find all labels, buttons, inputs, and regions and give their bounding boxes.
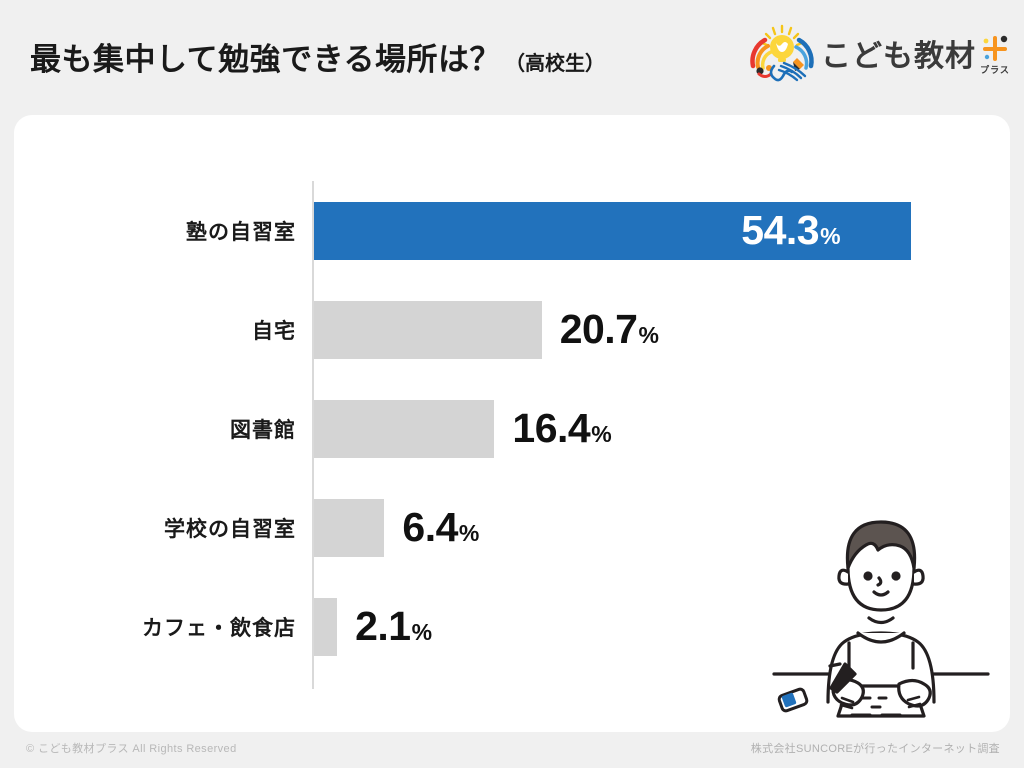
- brand-logo-text: こども教材: [821, 31, 976, 75]
- page-title-sub: （高校生）: [505, 47, 605, 76]
- chart-category-label: 図書館: [14, 414, 296, 444]
- bar-chart: 塾の自習室54.3%自宅20.7%図書館16.4%学校の自習室6.4%カフェ・飲…: [14, 115, 1010, 732]
- chart-card: 塾の自習室54.3%自宅20.7%図書館16.4%学校の自習室6.4%カフェ・飲…: [14, 115, 1010, 732]
- chart-bar: [314, 400, 494, 458]
- chart-value-number: 6.4: [402, 504, 458, 551]
- chart-value-unit: %: [639, 322, 659, 349]
- chart-bar: [314, 598, 337, 656]
- chart-row: 自宅20.7%: [14, 280, 1010, 379]
- chart-row: 学校の自習室6.4%: [14, 478, 1010, 577]
- chart-row: 塾の自習室54.3%: [14, 181, 1010, 280]
- chart-value-number: 16.4: [512, 405, 590, 452]
- page-header: 最も集中して勉強できる場所は？ （高校生）: [0, 0, 1024, 115]
- chart-value-unit: %: [820, 223, 840, 250]
- chart-value-label: 54.3%: [741, 207, 840, 254]
- chart-category-label: 学校の自習室: [14, 513, 296, 543]
- page-title-main: 最も集中して勉強できる場所は？: [30, 34, 501, 79]
- chart-category-label: カフェ・飲食店: [14, 612, 296, 642]
- chart-value-label: 2.1%: [355, 603, 432, 650]
- chart-bar: [314, 301, 542, 359]
- plus-icon: [980, 34, 1010, 62]
- chart-value-unit: %: [591, 421, 611, 448]
- chart-value-number: 2.1: [355, 603, 411, 650]
- chart-category-label: 塾の自習室: [14, 216, 296, 246]
- chart-value-label: 20.7%: [560, 306, 659, 353]
- chart-value-unit: %: [412, 619, 432, 646]
- brand-logo[interactable]: こども教材 プラス: [747, 22, 1010, 84]
- brand-logo-mark-icon: [747, 22, 817, 84]
- page-title: 最も集中して勉強できる場所は？ （高校生）: [30, 34, 605, 79]
- chart-row: 図書館16.4%: [14, 379, 1010, 478]
- brand-logo-plus: プラス: [980, 34, 1010, 76]
- chart-row: カフェ・飲食店2.1%: [14, 577, 1010, 676]
- chart-value-number: 54.3: [741, 207, 819, 254]
- chart-value-unit: %: [459, 520, 479, 547]
- chart-rows: 塾の自習室54.3%自宅20.7%図書館16.4%学校の自習室6.4%カフェ・飲…: [14, 181, 1010, 676]
- chart-value-label: 6.4%: [402, 504, 479, 551]
- chart-bar: [314, 499, 384, 557]
- chart-category-label: 自宅: [14, 315, 296, 345]
- survey-source-text: 株式会社SUNCOREが行ったインターネット調査: [751, 740, 1000, 756]
- page-footer: © こども教材プラス All Rights Reserved 株式会社SUNCO…: [0, 740, 1024, 768]
- brand-logo-plus-label: プラス: [980, 63, 1010, 76]
- chart-value-number: 20.7: [560, 306, 638, 353]
- copyright-text: © こども教材プラス All Rights Reserved: [26, 740, 237, 756]
- chart-value-label: 16.4%: [512, 405, 611, 452]
